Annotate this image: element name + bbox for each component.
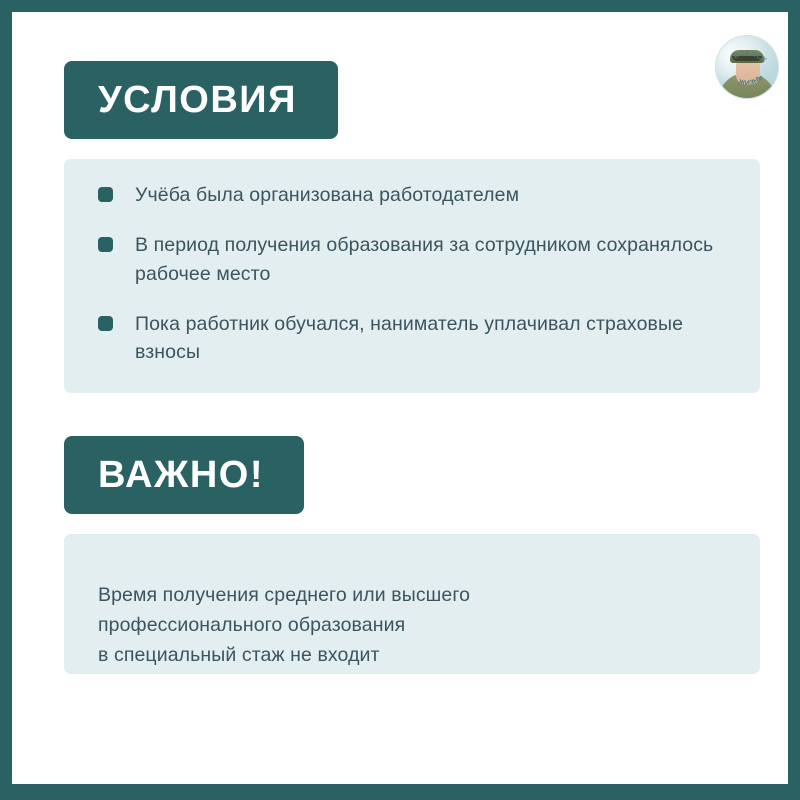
conditions-list: Учёба была организована работодателем В … (98, 181, 726, 366)
section-badge-important-label: ВАЖНО! (98, 456, 264, 494)
list-item: Учёба была организована работодателем (98, 181, 726, 209)
section-badge-conditions: УСЛОВИЯ (64, 61, 338, 139)
conditions-panel: Учёба была организована работодателем В … (64, 159, 760, 393)
section-badge-important: ВАЖНО! (64, 436, 304, 514)
portrait-circle-logo: ВОЕНСК ЖИЗНЬ (716, 36, 778, 98)
section-badge-conditions-label: УСЛОВИЯ (98, 81, 297, 119)
important-note-text: Время получения среднего или высшего про… (98, 580, 726, 671)
list-item-label: Пока работник обучался, наниматель уплач… (135, 310, 726, 367)
list-item: В период получения образования за сотруд… (98, 231, 726, 288)
logo-top-arc-label: ВОЕНСК (733, 50, 768, 64)
logo-bottom-arc-label: ЖИЗНЬ (737, 74, 765, 88)
list-item-label: В период получения образования за сотруд… (135, 231, 726, 288)
logo-arc-text: ВОЕНСК ЖИЗНЬ (716, 36, 778, 98)
poster-canvas: ВОЕНСК ЖИЗНЬ УСЛОВИЯ Учёба была организо… (12, 12, 788, 784)
list-item: Пока работник обучался, наниматель уплач… (98, 310, 726, 367)
list-item-label: Учёба была организована работодателем (135, 181, 519, 209)
bullet-square-icon (98, 237, 113, 252)
poster-frame: ВОЕНСК ЖИЗНЬ УСЛОВИЯ Учёба была организо… (0, 0, 800, 800)
bullet-square-icon (98, 187, 113, 202)
bullet-square-icon (98, 316, 113, 331)
important-panel: Время получения среднего или высшего про… (64, 534, 760, 674)
